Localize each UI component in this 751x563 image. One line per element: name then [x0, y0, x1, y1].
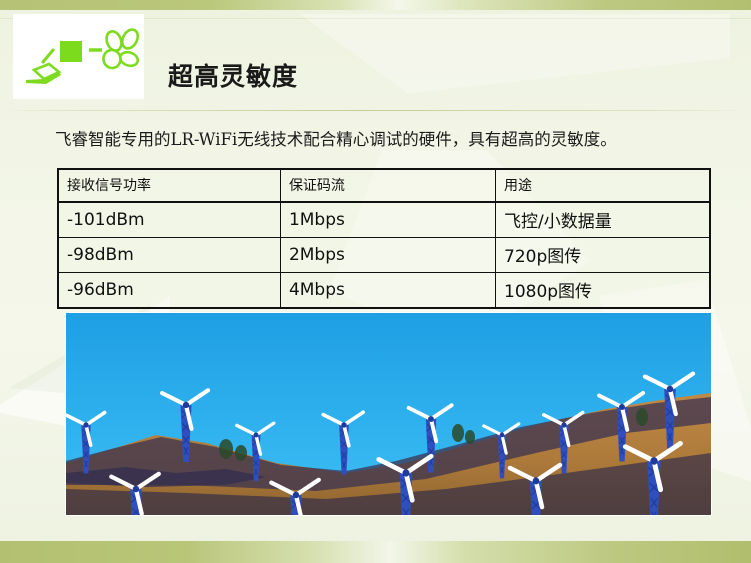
top-accent-band: [0, 0, 751, 10]
table-header-cell-signal-power: 接收信号功率: [58, 169, 280, 202]
table-header-cell-usage: 用途: [496, 169, 711, 202]
sensitivity-spec-table: 接收信号功率 保证码流 用途 -101dBm 1Mbps 飞控/小数据量 -98…: [57, 168, 711, 309]
table-header-row: 接收信号功率 保证码流 用途: [58, 169, 710, 202]
body-paragraph: 飞睿智能专用的LR-WiFi无线技术配合精心调试的硬件，具有超高的灵敏度。: [55, 126, 617, 150]
table-row: -96dBm 4Mbps 1080p图传: [58, 273, 710, 309]
table-header-cell-bitrate: 保证码流: [280, 169, 495, 202]
wind-farm-illustration: [66, 313, 711, 515]
logo-container: [13, 14, 144, 99]
table-cell-bitrate: 2Mbps: [280, 238, 495, 273]
slide-canvas: 超高灵敏度 飞睿智能专用的LR-WiFi无线技术配合精心调试的硬件，具有超高的灵…: [0, 0, 751, 563]
background-wedge-top: [300, 14, 730, 124]
network-nodes-logo-icon: [13, 14, 144, 99]
table-cell-signal-power: -98dBm: [58, 238, 280, 273]
table-cell-usage: 飞控/小数据量: [496, 202, 711, 238]
table-row: -101dBm 1Mbps 飞控/小数据量: [58, 202, 710, 238]
table-cell-bitrate: 4Mbps: [280, 273, 495, 309]
table-cell-usage: 720p图传: [496, 238, 711, 273]
bottom-accent-band: [0, 541, 751, 563]
table-cell-signal-power: -101dBm: [58, 202, 280, 238]
page-title: 超高灵敏度: [168, 57, 298, 93]
header-divider-line: [0, 110, 751, 111]
table-cell-bitrate: 1Mbps: [280, 202, 495, 238]
table-cell-signal-power: -96dBm: [58, 273, 280, 309]
table-cell-usage: 1080p图传: [496, 273, 711, 309]
wind-farm-photo: [66, 313, 711, 515]
table-row: -98dBm 2Mbps 720p图传: [58, 238, 710, 273]
